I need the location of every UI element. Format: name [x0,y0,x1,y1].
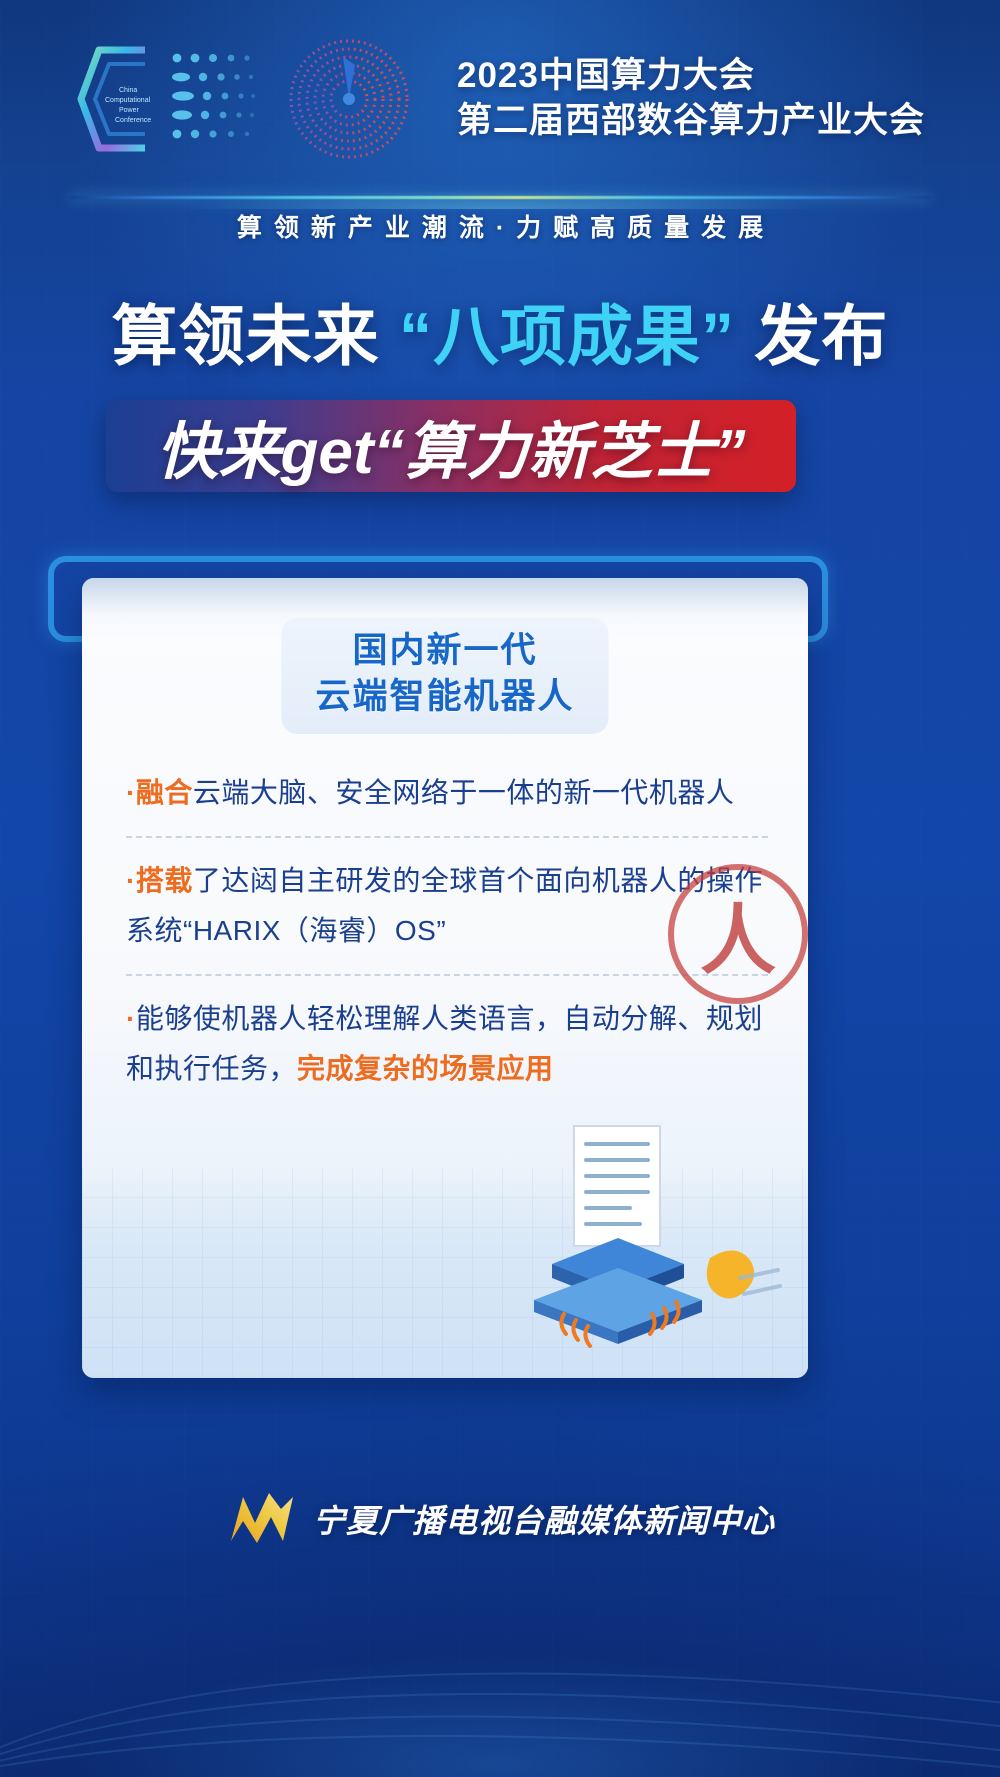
card-heading-pill: 国内新一代 云端智能机器人 [281,618,608,734]
main-title-highlight: “八项成果” [399,299,735,373]
poster-header: China Computational Power Conference [0,0,1000,198]
footer-organization-name: 宁夏广播电视台融媒体新闻中心 [313,1496,775,1542]
main-title-line1: 算领未来 “八项成果” 发布 [0,296,1000,376]
main-title-line2: 快来get“算力新芝士” [106,400,796,492]
card-heading-line1: 国内新一代 [315,628,574,674]
bullet-item-3: ·能够使机器人轻松理解人类语言，自动分解、规划和执行任务，完成复杂的场景应用 [126,994,772,1094]
result-card: 国内新一代 云端智能机器人 ·融合云端大脑、安全网络于一体的新一代机器人 ·搭载… [82,578,808,1378]
bullet-separator-1 [126,836,768,838]
poster-footer: 宁夏广播电视台融媒体新闻中心 [0,1477,1000,1777]
conference-dotmatrix-icon [167,44,259,154]
main-title-part1: 算领未来 [112,299,399,373]
bullet-item-2: ·搭载了达闼自主研发的全球首个面向机器人的操作系统“HARIX（海睿）OS” [126,856,772,956]
bullet-dot: · [126,865,136,896]
card-bullet-list: ·融合云端大脑、安全网络于一体的新一代机器人 ·搭载了达闼自主研发的全球首个面向… [126,768,772,1094]
bullet-tail-highlight: 完成复杂的场景应用 [297,1053,554,1084]
bullet-separator-2 [126,974,768,976]
bullet-highlight: 融合 [136,777,193,808]
bullet-dot: · [126,1003,136,1034]
bullet-item-1: ·融合云端大脑、安全网络于一体的新一代机器人 [126,768,772,818]
footer-arc-decoration [0,1527,1000,1777]
bullet-dot: · [126,777,136,808]
isometric-document-illustration [512,1118,792,1348]
svg-text:China: China [119,87,137,94]
slogan-strip: 算领新产业潮流·力赋高质量发展 [0,196,1000,248]
slogan-text: 算领新产业潮流·力赋高质量发展 [0,208,1000,244]
conference-title-line2: 第二届西部数谷算力产业大会 [457,98,925,144]
card-heading-line2: 云端智能机器人 [315,674,574,720]
bullet-text: 云端大脑、安全网络于一体的新一代机器人 [193,777,735,808]
ningxia-n-logo-icon [225,1491,299,1547]
slogan-divider-line [70,196,930,199]
conference-title-line1: 2023中国算力大会 [457,54,925,98]
bullet-text: 了达闼自主研发的全球首个面向机器人的操作系统“HARIX（海睿）OS” [126,865,763,946]
conference-title: 2023中国算力大会 第二届西部数谷算力产业大会 [457,54,925,144]
footer-brand-row: 宁夏广播电视台融媒体新闻中心 [0,1491,1000,1547]
svg-text:Conference: Conference [115,117,151,124]
svg-text:Power: Power [119,107,140,114]
svg-text:Computational: Computational [105,97,151,104]
bullet-highlight: 搭载 [136,865,193,896]
conference-fan-logo-icon [285,35,413,163]
main-title-part2: 发布 [735,299,888,373]
